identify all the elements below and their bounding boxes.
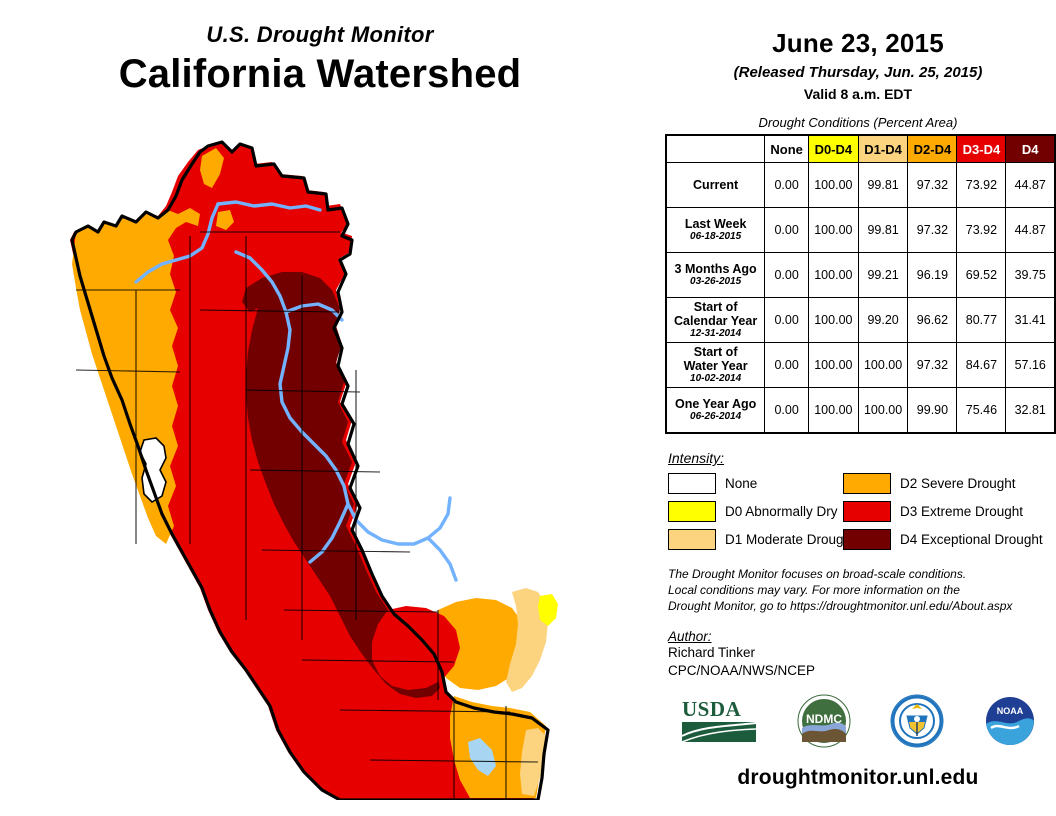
table-cell-d0-d4: 100.00 xyxy=(808,388,858,434)
row-date: 03-26-2015 xyxy=(667,276,764,287)
row-date: 06-26-2014 xyxy=(667,411,764,422)
legend-item: D3 Extreme Drought xyxy=(843,501,1033,522)
table-cell-d0-d4: 100.00 xyxy=(808,163,858,208)
table-row: Start ofCalendar Year12-31-20140.00100.0… xyxy=(666,298,1055,343)
row-date: 06-18-2015 xyxy=(667,231,764,242)
row-label: Last Week06-18-2015 xyxy=(666,208,765,253)
disclaimer-text: The Drought Monitor focuses on broad-sca… xyxy=(660,567,1056,615)
table-cell-none: 0.00 xyxy=(765,208,809,253)
row-label: Start ofWater Year10-02-2014 xyxy=(666,343,765,388)
legend-swatch xyxy=(843,473,891,494)
ndmc-logo: NDMC xyxy=(797,694,851,748)
table-row: 3 Months Ago03-26-20150.00100.0099.2196.… xyxy=(666,253,1055,298)
table-cell-none: 0.00 xyxy=(765,163,809,208)
noaa-logo: NOAA xyxy=(983,694,1037,748)
table-corner-cell xyxy=(666,135,765,163)
table-cell-d2-d4: 96.19 xyxy=(908,253,957,298)
valid-time: Valid 8 a.m. EDT xyxy=(660,86,1056,102)
col-header-none: None xyxy=(765,135,809,163)
table-cell-d3-d4: 84.67 xyxy=(957,343,1006,388)
table-cell-none: 0.00 xyxy=(765,253,809,298)
col-header-d4: D4 xyxy=(1006,135,1055,163)
row-label: Start ofCalendar Year12-31-2014 xyxy=(666,298,765,343)
california-watershed-map xyxy=(40,140,640,800)
col-header-d3-d4: D3-D4 xyxy=(957,135,1006,163)
table-cell-d2-d4: 97.32 xyxy=(908,343,957,388)
legend-item: D0 Abnormally Dry xyxy=(668,501,843,522)
page-subtitle: U.S. Drought Monitor xyxy=(0,22,640,48)
table-cell-d2-d4: 96.62 xyxy=(908,298,957,343)
table-row: Current0.00100.0099.8197.3273.9244.87 xyxy=(666,163,1055,208)
table-cell-d3-d4: 69.52 xyxy=(957,253,1006,298)
table-cell-d3-d4: 73.92 xyxy=(957,208,1006,253)
legend-swatch xyxy=(668,529,716,550)
legend-swatch xyxy=(668,501,716,522)
commerce-seal xyxy=(890,694,944,748)
legend-swatch xyxy=(843,501,891,522)
table-cell-d4: 32.81 xyxy=(1006,388,1055,434)
row-label: 3 Months Ago03-26-2015 xyxy=(666,253,765,298)
table-cell-d1-d4: 100.00 xyxy=(858,388,908,434)
table-row: Last Week06-18-20150.00100.0099.8197.327… xyxy=(666,208,1055,253)
author-heading: Author: xyxy=(660,629,1056,644)
table-cell-d0-d4: 100.00 xyxy=(808,343,858,388)
table-header-row: None D0-D4 D1-D4 D2-D4 D3-D4 D4 xyxy=(666,135,1055,163)
table-cell-d4: 57.16 xyxy=(1006,343,1055,388)
table-cell-d3-d4: 80.77 xyxy=(957,298,1006,343)
release-date: (Released Thursday, Jun. 25, 2015) xyxy=(660,64,1056,81)
legend-swatch xyxy=(668,473,716,494)
drought-map-svg xyxy=(40,140,640,800)
disclaimer-line-1: The Drought Monitor focuses on broad-sca… xyxy=(668,567,1056,583)
row-label: One Year Ago06-26-2014 xyxy=(666,388,765,434)
table-row: One Year Ago06-26-20140.00100.00100.0099… xyxy=(666,388,1055,434)
legend-grid: NoneD2 Severe DroughtD0 Abnormally DryD3… xyxy=(668,473,1056,550)
disclaimer-line-2: Local conditions may vary. For more info… xyxy=(668,583,1056,599)
table-cell-d4: 44.87 xyxy=(1006,208,1055,253)
table-body: Current0.00100.0099.8197.3273.9244.87Las… xyxy=(666,163,1055,434)
intensity-legend: Intensity: NoneD2 Severe DroughtD0 Abnor… xyxy=(660,450,1056,550)
table-cell-d1-d4: 99.81 xyxy=(858,163,908,208)
table-cell-d3-d4: 75.46 xyxy=(957,388,1006,434)
row-date: 10-02-2014 xyxy=(667,373,764,384)
intensity-heading: Intensity: xyxy=(668,450,1056,466)
report-date: June 23, 2015 xyxy=(660,28,1056,59)
drought-conditions-table: None D0-D4 D1-D4 D2-D4 D3-D4 D4 Current0… xyxy=(665,134,1056,434)
col-header-d2-d4: D2-D4 xyxy=(908,135,957,163)
legend-label: None xyxy=(725,476,757,491)
table-cell-none: 0.00 xyxy=(765,388,809,434)
logo-row: USDA NDMC xyxy=(660,686,1056,756)
table-cell-d1-d4: 99.81 xyxy=(858,208,908,253)
legend-item: None xyxy=(668,473,843,494)
table-cell-d4: 39.75 xyxy=(1006,253,1055,298)
col-header-d1-d4: D1-D4 xyxy=(858,135,908,163)
table-cell-d1-d4: 100.00 xyxy=(858,343,908,388)
legend-label: D3 Extreme Drought xyxy=(900,504,1023,519)
table-caption: Drought Conditions (Percent Area) xyxy=(660,115,1056,130)
legend-item: D1 Moderate Drought xyxy=(668,529,843,550)
svg-text:NOAA: NOAA xyxy=(996,706,1023,716)
date-block: June 23, 2015 (Released Thursday, Jun. 2… xyxy=(660,0,1056,102)
author-name: Richard Tinker xyxy=(660,644,1056,662)
usda-logo: USDA xyxy=(680,696,758,746)
legend-swatch xyxy=(843,529,891,550)
legend-item: D4 Exceptional Drought xyxy=(843,529,1033,550)
legend-item: D2 Severe Drought xyxy=(843,473,1033,494)
table-cell-d0-d4: 100.00 xyxy=(808,253,858,298)
table-cell-d0-d4: 100.00 xyxy=(808,208,858,253)
table-cell-d4: 44.87 xyxy=(1006,163,1055,208)
table-cell-d0-d4: 100.00 xyxy=(808,298,858,343)
table-cell-d1-d4: 99.21 xyxy=(858,253,908,298)
table-cell-d3-d4: 73.92 xyxy=(957,163,1006,208)
table-cell-none: 0.00 xyxy=(765,343,809,388)
table-row: Start ofWater Year10-02-20140.00100.0010… xyxy=(666,343,1055,388)
page-title: California Watershed xyxy=(0,52,640,97)
legend-label: D1 Moderate Drought xyxy=(725,532,855,547)
svg-text:NDMC: NDMC xyxy=(806,712,842,726)
legend-label: D0 Abnormally Dry xyxy=(725,504,838,519)
row-date: 12-31-2014 xyxy=(667,328,764,339)
right-panel: June 23, 2015 (Released Thursday, Jun. 2… xyxy=(660,0,1056,816)
svg-text:USDA: USDA xyxy=(682,697,742,721)
table-cell-d1-d4: 99.20 xyxy=(858,298,908,343)
row-label: Current xyxy=(666,163,765,208)
site-url: droughtmonitor.unl.edu xyxy=(660,766,1056,790)
disclaimer-line-3: Drought Monitor, go to https://droughtmo… xyxy=(668,599,1056,615)
legend-label: D4 Exceptional Drought xyxy=(900,532,1043,547)
table-cell-none: 0.00 xyxy=(765,298,809,343)
title-block: U.S. Drought Monitor California Watershe… xyxy=(0,22,640,97)
author-affiliation: CPC/NOAA/NWS/NCEP xyxy=(660,662,1056,680)
table-cell-d2-d4: 97.32 xyxy=(908,208,957,253)
col-header-d0-d4: D0-D4 xyxy=(808,135,858,163)
legend-label: D2 Severe Drought xyxy=(900,476,1016,491)
table-cell-d4: 31.41 xyxy=(1006,298,1055,343)
table-cell-d2-d4: 99.90 xyxy=(908,388,957,434)
table-cell-d2-d4: 97.32 xyxy=(908,163,957,208)
